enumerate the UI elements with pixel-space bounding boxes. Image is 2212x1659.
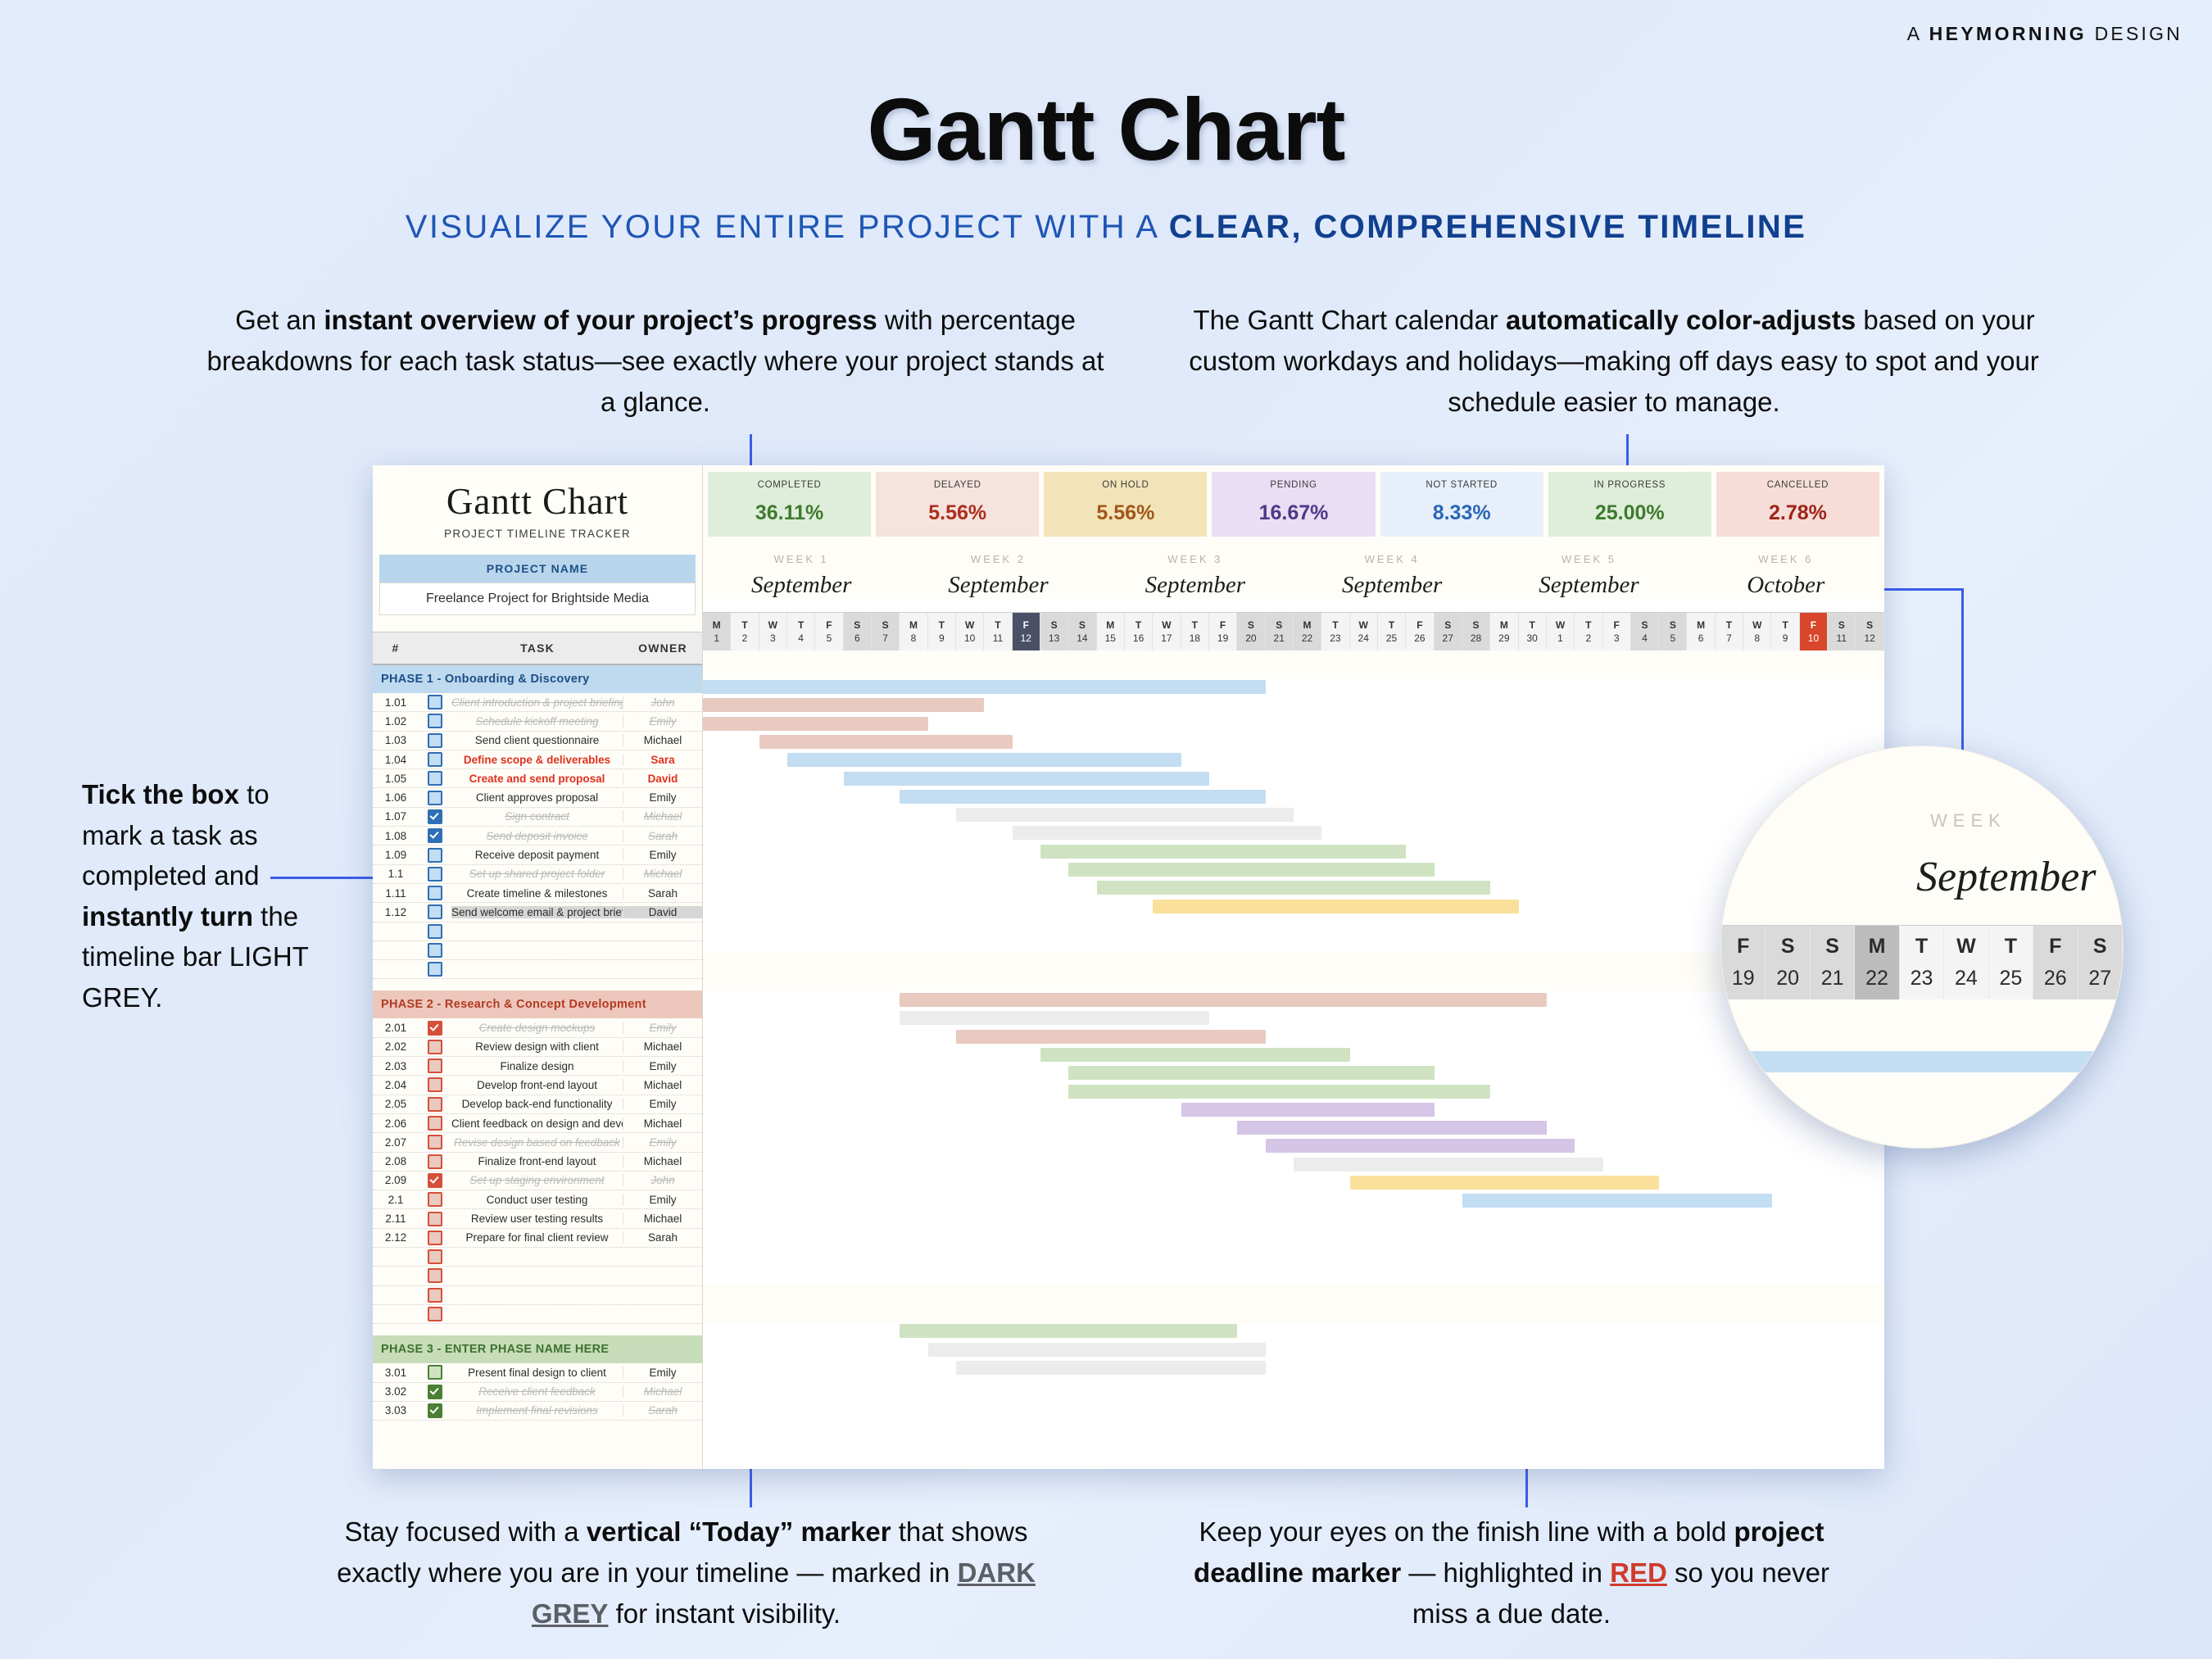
task-checkbox-cell[interactable] bbox=[419, 1135, 451, 1149]
week-header-4: WEEK 4September bbox=[1294, 553, 1490, 599]
task-checkbox-cell[interactable] bbox=[419, 848, 451, 863]
magnifier-day-24: W24 bbox=[1944, 926, 1988, 999]
task-row[interactable]: 2.05Develop back-end functionalityEmily bbox=[373, 1095, 702, 1114]
checkbox-icon[interactable] bbox=[428, 1249, 442, 1264]
day-cell-22[interactable]: M22 bbox=[1294, 613, 1321, 650]
gantt-bar[interactable] bbox=[1462, 1194, 1772, 1208]
day-weekday: S bbox=[1435, 619, 1462, 632]
day-number: 18 bbox=[1181, 632, 1208, 645]
task-name[interactable]: Create timeline & milestones bbox=[451, 887, 623, 900]
checkbox-icon[interactable] bbox=[428, 848, 442, 863]
task-owner[interactable]: Michael bbox=[623, 1213, 702, 1225]
day-number: 3 bbox=[759, 632, 786, 645]
checkbox-icon[interactable] bbox=[428, 1365, 442, 1380]
checkbox-icon[interactable] bbox=[428, 1192, 442, 1207]
task-owner[interactable]: Emily bbox=[623, 1367, 702, 1379]
day-cell-18[interactable]: T18 bbox=[1181, 613, 1209, 650]
checkbox-icon[interactable] bbox=[428, 1288, 442, 1303]
day-cell-2[interactable]: T2 bbox=[1575, 613, 1602, 650]
task-checkbox-cell[interactable] bbox=[419, 886, 451, 900]
gantt-bar[interactable] bbox=[759, 735, 1013, 749]
day-cell-29[interactable]: M29 bbox=[1490, 613, 1518, 650]
checkbox-icon[interactable] bbox=[428, 1212, 442, 1226]
task-checkbox-cell[interactable] bbox=[419, 771, 451, 786]
week-header-5: WEEK 5September bbox=[1490, 553, 1687, 599]
task-owner[interactable]: Michael bbox=[623, 810, 702, 823]
day-number: 29 bbox=[1490, 632, 1517, 645]
task-row[interactable]: 1.04Define scope & deliverablesSara bbox=[373, 750, 702, 769]
week-month: September bbox=[900, 572, 1096, 599]
status-card-cancelled: CANCELLED2.78% bbox=[1716, 472, 1879, 537]
day-cell-30[interactable]: T30 bbox=[1519, 613, 1547, 650]
day-cell-11[interactable]: S11 bbox=[1828, 613, 1856, 650]
task-row[interactable]: 3.01Present final design to clientEmily bbox=[373, 1363, 702, 1382]
checkbox-icon[interactable] bbox=[428, 924, 442, 939]
checkbox-icon[interactable] bbox=[428, 1077, 442, 1092]
checkbox-icon[interactable] bbox=[428, 1307, 442, 1321]
task-row[interactable]: 2.02Review design with clientMichael bbox=[373, 1038, 702, 1057]
task-row[interactable]: 1.09Receive deposit paymentEmily bbox=[373, 845, 702, 864]
checkbox-icon[interactable] bbox=[428, 809, 442, 824]
annotation-deadline-marker: Keep your eyes on the finish line with a… bbox=[1180, 1512, 1843, 1634]
task-name[interactable]: Present final design to client bbox=[451, 1367, 623, 1379]
checkbox-icon[interactable] bbox=[428, 1268, 442, 1283]
grid-phase-band bbox=[703, 650, 1884, 678]
brand-credit: A HEYMORNING DESIGN bbox=[1907, 23, 2183, 45]
task-owner[interactable]: Sarah bbox=[623, 1404, 702, 1416]
task-checkbox-cell[interactable] bbox=[419, 904, 451, 919]
day-weekday: T bbox=[984, 619, 1011, 632]
brand-prefix: A bbox=[1907, 23, 1921, 44]
task-name[interactable]: Send deposit invoice bbox=[451, 830, 623, 842]
task-owner[interactable]: Michael bbox=[623, 1385, 702, 1398]
week-label: WEEK 5 bbox=[1490, 553, 1687, 565]
day-cell-20[interactable]: S20 bbox=[1237, 613, 1265, 650]
task-checkbox-cell[interactable] bbox=[419, 1192, 451, 1207]
task-owner[interactable]: Michael bbox=[623, 1155, 702, 1167]
week-header-6: WEEK 6October bbox=[1688, 553, 1884, 599]
task-name[interactable]: Receive deposit payment bbox=[451, 849, 623, 861]
gantt-bar[interactable] bbox=[844, 772, 1209, 786]
task-checkbox-cell[interactable] bbox=[419, 714, 451, 728]
task-row[interactable]: 2.03Finalize designEmily bbox=[373, 1057, 702, 1076]
task-checkbox-cell[interactable] bbox=[419, 1212, 451, 1226]
task-name[interactable]: Schedule kickoff meeting bbox=[451, 715, 623, 728]
gantt-bar[interactable] bbox=[900, 993, 1547, 1007]
task-row[interactable]: 1.07Sign contractMichael bbox=[373, 808, 702, 827]
day-weekday: T bbox=[1575, 619, 1602, 632]
task-owner[interactable]: Sarah bbox=[623, 887, 702, 900]
checkbox-icon[interactable] bbox=[428, 1116, 442, 1131]
task-checkbox-cell[interactable] bbox=[419, 733, 451, 748]
gantt-bar[interactable] bbox=[1294, 1158, 1603, 1172]
task-checkbox-cell[interactable] bbox=[419, 1058, 451, 1073]
checkbox-icon[interactable] bbox=[428, 695, 442, 709]
task-row[interactable]: 1.02Schedule kickoff meetingEmily bbox=[373, 712, 702, 731]
magnifier-bar-row bbox=[1721, 1051, 2123, 1072]
task-checkbox-cell[interactable] bbox=[419, 809, 451, 824]
task-name[interactable]: Create and send proposal bbox=[451, 773, 623, 785]
project-name-input[interactable]: Freelance Project for Brightside Media bbox=[379, 582, 696, 615]
gantt-bar[interactable] bbox=[900, 790, 1265, 804]
checkbox-icon[interactable] bbox=[428, 714, 442, 728]
checkbox-icon[interactable] bbox=[428, 904, 442, 919]
checkbox-icon[interactable] bbox=[428, 791, 442, 805]
task-name[interactable]: Client introduction & project briefing bbox=[451, 696, 623, 709]
day-cell-10[interactable]: F10 bbox=[1800, 613, 1828, 650]
task-owner[interactable]: John bbox=[623, 696, 702, 709]
day-cell-21[interactable]: S21 bbox=[1266, 613, 1294, 650]
day-number: 4 bbox=[787, 632, 814, 645]
task-checkbox-cell[interactable] bbox=[419, 1385, 451, 1399]
gantt-bar[interactable] bbox=[1068, 1066, 1434, 1080]
checkbox-icon[interactable] bbox=[428, 943, 442, 958]
task-number: 2.09 bbox=[373, 1174, 419, 1186]
task-row-empty[interactable] bbox=[373, 960, 702, 979]
task-owner[interactable]: Michael bbox=[623, 734, 702, 746]
day-cell-8[interactable]: M8 bbox=[900, 613, 927, 650]
task-row[interactable]: 2.11Review user testing resultsMichael bbox=[373, 1209, 702, 1228]
task-row[interactable]: 2.01Create design mockupsEmily bbox=[373, 1018, 702, 1037]
day-number: 16 bbox=[1125, 632, 1152, 645]
task-owner[interactable]: Michael bbox=[623, 1079, 702, 1091]
magnifier-day-weekday: M bbox=[1869, 935, 1886, 959]
task-checkbox-cell[interactable] bbox=[419, 695, 451, 709]
task-row[interactable]: 2.04Develop front-end layoutMichael bbox=[373, 1076, 702, 1095]
task-name[interactable]: Set up shared project folder bbox=[451, 868, 623, 880]
day-weekday: T bbox=[787, 619, 814, 632]
task-name[interactable]: Define scope & deliverables bbox=[451, 754, 623, 766]
task-owner[interactable]: Sara bbox=[623, 754, 702, 766]
task-row[interactable]: 1.1Set up shared project folderMichael bbox=[373, 865, 702, 884]
task-row[interactable]: 1.06Client approves proposalEmily bbox=[373, 788, 702, 807]
day-cell-6[interactable]: M6 bbox=[1687, 613, 1715, 650]
task-owner[interactable]: Emily bbox=[623, 1022, 702, 1034]
day-number: 24 bbox=[1350, 632, 1377, 645]
task-checkbox-cell[interactable] bbox=[419, 1403, 451, 1418]
gantt-bar[interactable] bbox=[1068, 1085, 1490, 1099]
week-label: WEEK 4 bbox=[1294, 553, 1490, 565]
gantt-bar[interactable] bbox=[900, 1011, 1209, 1025]
day-cell-3[interactable]: W3 bbox=[759, 613, 787, 650]
task-owner[interactable]: Emily bbox=[623, 1060, 702, 1072]
day-weekday: M bbox=[1687, 619, 1714, 632]
task-name[interactable]: Finalize design bbox=[451, 1060, 623, 1072]
magnifier-day-weekday: F bbox=[2049, 935, 2061, 959]
day-cell-7[interactable]: T7 bbox=[1716, 613, 1743, 650]
gantt-bar[interactable] bbox=[1153, 900, 1518, 913]
col-header-task: TASK bbox=[451, 632, 623, 664]
day-number: 26 bbox=[1406, 632, 1433, 645]
gantt-bar[interactable] bbox=[900, 1324, 1237, 1338]
week-label: WEEK 2 bbox=[900, 553, 1096, 565]
task-owner[interactable]: Michael bbox=[623, 868, 702, 880]
day-cell-9[interactable]: T9 bbox=[1771, 613, 1799, 650]
status-card-label: NOT STARTED bbox=[1380, 480, 1543, 490]
task-name[interactable]: Conduct user testing bbox=[451, 1194, 623, 1206]
task-name[interactable]: Review design with client bbox=[451, 1040, 623, 1053]
task-checkbox-cell[interactable] bbox=[419, 1116, 451, 1131]
project-name-label: PROJECT NAME bbox=[379, 555, 696, 582]
task-row[interactable]: 2.09Set up staging environmentJohn bbox=[373, 1172, 702, 1190]
task-row[interactable]: 1.12Send welcome email & project briefDa… bbox=[373, 903, 702, 922]
task-checkbox-cell[interactable] bbox=[419, 867, 451, 882]
task-owner[interactable]: Michael bbox=[623, 1117, 702, 1130]
day-cell-16[interactable]: T16 bbox=[1125, 613, 1153, 650]
day-cell-12[interactable]: F12 bbox=[1013, 613, 1040, 650]
task-owner[interactable]: Emily bbox=[623, 849, 702, 861]
day-cell-3[interactable]: F3 bbox=[1603, 613, 1631, 650]
task-name[interactable]: Set up staging environment bbox=[451, 1174, 623, 1186]
task-number: 2.06 bbox=[373, 1117, 419, 1130]
day-cell-6[interactable]: S6 bbox=[844, 613, 872, 650]
week-month: September bbox=[1294, 572, 1490, 599]
task-row-empty[interactable] bbox=[373, 922, 702, 941]
task-checkbox-cell[interactable] bbox=[419, 1268, 451, 1283]
task-owner[interactable]: Sarah bbox=[623, 830, 702, 842]
task-name[interactable]: Revise design based on feedback bbox=[451, 1136, 623, 1149]
day-number: 19 bbox=[1209, 632, 1236, 645]
day-cell-23[interactable]: T23 bbox=[1321, 613, 1349, 650]
checkbox-icon[interactable] bbox=[428, 886, 442, 900]
checkbox-icon[interactable] bbox=[428, 1040, 442, 1054]
task-owner[interactable]: Michael bbox=[623, 1040, 702, 1053]
day-cell-11[interactable]: T11 bbox=[984, 613, 1012, 650]
day-cell-17[interactable]: W17 bbox=[1153, 613, 1181, 650]
task-number: 2.01 bbox=[373, 1022, 419, 1034]
day-weekday: M bbox=[1490, 619, 1517, 632]
task-row[interactable]: 3.02Receive client feedbackMichael bbox=[373, 1383, 702, 1402]
task-name[interactable]: Develop back-end functionality bbox=[451, 1098, 623, 1110]
day-weekday: M bbox=[703, 619, 730, 632]
task-number: 2.11 bbox=[373, 1213, 419, 1225]
task-name[interactable]: Finalize front-end layout bbox=[451, 1155, 623, 1167]
task-row-empty[interactable] bbox=[373, 1248, 702, 1267]
task-number: 3.02 bbox=[373, 1385, 419, 1398]
task-name[interactable]: Send client questionnaire bbox=[451, 734, 623, 746]
task-checkbox-cell[interactable] bbox=[419, 752, 451, 767]
task-owner[interactable]: John bbox=[623, 1174, 702, 1186]
task-row[interactable]: 1.11Create timeline & milestonesSarah bbox=[373, 884, 702, 903]
day-number: 23 bbox=[1321, 632, 1349, 645]
magnifier-day-number: 19 bbox=[1732, 967, 1755, 990]
day-cell-25[interactable]: T25 bbox=[1378, 613, 1406, 650]
gantt-bar[interactable] bbox=[956, 1030, 1266, 1044]
day-number: 2 bbox=[731, 632, 758, 645]
task-name[interactable]: Send welcome email & project brief bbox=[451, 906, 623, 918]
magnifier-day-weekday: T bbox=[1915, 935, 1928, 959]
task-checkbox-cell[interactable] bbox=[419, 791, 451, 805]
task-checkbox-cell[interactable] bbox=[419, 1173, 451, 1188]
status-card-label: IN PROGRESS bbox=[1548, 480, 1711, 490]
day-cell-1[interactable]: M1 bbox=[703, 613, 731, 650]
day-number: 3 bbox=[1603, 632, 1630, 645]
checkbox-icon[interactable] bbox=[428, 752, 442, 767]
task-owner[interactable]: Sarah bbox=[623, 1231, 702, 1244]
day-weekday: T bbox=[1378, 619, 1405, 632]
status-card-pending: PENDING16.67% bbox=[1212, 472, 1375, 537]
gantt-bar[interactable] bbox=[928, 1343, 1266, 1357]
gantt-bar[interactable] bbox=[1237, 1121, 1547, 1135]
magnifier-day-22: M22 bbox=[1855, 926, 1899, 999]
day-cell-10[interactable]: W10 bbox=[956, 613, 984, 650]
task-owner[interactable]: Emily bbox=[623, 1194, 702, 1206]
task-name[interactable]: Review user testing results bbox=[451, 1213, 623, 1225]
day-weekday: M bbox=[1294, 619, 1321, 632]
task-checkbox-cell[interactable] bbox=[419, 1288, 451, 1303]
day-cell-9[interactable]: T9 bbox=[928, 613, 956, 650]
day-weekday: S bbox=[1631, 619, 1658, 632]
checkbox-icon[interactable] bbox=[428, 1231, 442, 1245]
task-owner[interactable]: David bbox=[623, 906, 702, 918]
week-header-3: WEEK 3September bbox=[1097, 553, 1294, 599]
checkbox-icon[interactable] bbox=[428, 1097, 442, 1112]
day-cell-28[interactable]: S28 bbox=[1462, 613, 1490, 650]
magnifier-day-number: 20 bbox=[1776, 967, 1799, 990]
gantt-bar[interactable] bbox=[1068, 863, 1434, 877]
task-row-empty[interactable] bbox=[373, 1286, 702, 1305]
task-checkbox-cell[interactable] bbox=[419, 1097, 451, 1112]
status-card-value: 2.78% bbox=[1716, 501, 1879, 525]
task-owner[interactable]: Emily bbox=[623, 715, 702, 728]
checkbox-icon[interactable] bbox=[428, 962, 442, 977]
gantt-bar[interactable] bbox=[1013, 826, 1322, 840]
task-checkbox-cell[interactable] bbox=[419, 924, 451, 939]
checkbox-icon[interactable] bbox=[428, 771, 442, 786]
task-row[interactable]: 2.1Conduct user testingEmily bbox=[373, 1190, 702, 1209]
task-owner[interactable]: David bbox=[623, 773, 702, 785]
checkbox-icon[interactable] bbox=[428, 1021, 442, 1036]
task-name[interactable]: Client approves proposal bbox=[451, 791, 623, 804]
magnifier-day-23: T23 bbox=[1900, 926, 1944, 999]
task-row[interactable]: 1.01Client introduction & project briefi… bbox=[373, 693, 702, 712]
task-checkbox-cell[interactable] bbox=[419, 1040, 451, 1054]
status-card-delayed: DELAYED5.56% bbox=[876, 472, 1039, 537]
phase-gap bbox=[373, 979, 702, 990]
magnifier-day-number: 21 bbox=[1821, 967, 1844, 990]
task-name[interactable]: Prepare for final client review bbox=[451, 1231, 623, 1244]
status-card-label: PENDING bbox=[1212, 480, 1375, 490]
checkbox-icon[interactable] bbox=[428, 867, 442, 882]
gantt-bar[interactable] bbox=[956, 1361, 1266, 1375]
task-row-empty[interactable] bbox=[373, 1305, 702, 1324]
day-weekday: W bbox=[1350, 619, 1377, 632]
magnifier-week-label: WEEK bbox=[1930, 810, 2006, 832]
day-cell-19[interactable]: F19 bbox=[1209, 613, 1237, 650]
task-row[interactable]: 2.08Finalize front-end layoutMichael bbox=[373, 1153, 702, 1172]
checkbox-icon[interactable] bbox=[428, 828, 442, 843]
task-checkbox-cell[interactable] bbox=[419, 1249, 451, 1264]
task-number: 1.04 bbox=[373, 754, 419, 766]
magnifier-day-26: F26 bbox=[2033, 926, 2078, 999]
day-cell-5[interactable]: F5 bbox=[815, 613, 843, 650]
task-number: 1.01 bbox=[373, 696, 419, 709]
task-checkbox-cell[interactable] bbox=[419, 1021, 451, 1036]
gantt-bar[interactable] bbox=[787, 753, 1181, 767]
magnifier-day-20: S20 bbox=[1766, 926, 1810, 999]
day-cell-24[interactable]: W24 bbox=[1350, 613, 1378, 650]
task-row-empty[interactable] bbox=[373, 941, 702, 960]
gantt-bar[interactable] bbox=[1040, 1048, 1350, 1062]
day-cell-5[interactable]: S5 bbox=[1659, 613, 1687, 650]
day-cell-15[interactable]: M15 bbox=[1097, 613, 1125, 650]
task-row[interactable]: 2.07Revise design based on feedbackEmily bbox=[373, 1133, 702, 1152]
day-cell-2[interactable]: T2 bbox=[731, 613, 759, 650]
task-row[interactable]: 1.05Create and send proposalDavid bbox=[373, 769, 702, 788]
checkbox-icon[interactable] bbox=[428, 1154, 442, 1169]
day-cell-26[interactable]: F26 bbox=[1406, 613, 1434, 650]
checkbox-icon[interactable] bbox=[428, 1385, 442, 1399]
task-row[interactable]: 1.08Send deposit invoiceSarah bbox=[373, 827, 702, 845]
task-checkbox-cell[interactable] bbox=[419, 1307, 451, 1321]
gantt-sheet[interactable]: Gantt Chart PROJECT TIMELINE TRACKER PRO… bbox=[373, 465, 1884, 1469]
day-cell-27[interactable]: S27 bbox=[1435, 613, 1462, 650]
checkbox-icon[interactable] bbox=[428, 1058, 442, 1073]
day-cell-12[interactable]: S12 bbox=[1856, 613, 1883, 650]
task-name[interactable]: Develop front-end layout bbox=[451, 1079, 623, 1091]
task-name[interactable]: Sign contract bbox=[451, 810, 623, 823]
task-checkbox-cell[interactable] bbox=[419, 943, 451, 958]
task-owner[interactable]: Emily bbox=[623, 791, 702, 804]
gantt-bar[interactable] bbox=[703, 680, 1266, 694]
day-cell-1[interactable]: W1 bbox=[1547, 613, 1575, 650]
task-checkbox-cell[interactable] bbox=[419, 962, 451, 977]
day-cell-4[interactable]: S4 bbox=[1631, 613, 1659, 650]
task-row[interactable]: 1.03Send client questionnaireMichael bbox=[373, 732, 702, 750]
task-name[interactable]: Create design mockups bbox=[451, 1022, 623, 1034]
checkbox-icon[interactable] bbox=[428, 733, 442, 748]
task-row[interactable]: 3.03Implement final revisionsSarah bbox=[373, 1402, 702, 1421]
checkbox-icon[interactable] bbox=[428, 1173, 442, 1188]
day-weekday: S bbox=[1266, 619, 1293, 632]
task-owner[interactable]: Emily bbox=[623, 1136, 702, 1149]
phase-header-1: PHASE 1 - Onboarding & Discovery bbox=[373, 665, 702, 693]
task-owner[interactable]: Emily bbox=[623, 1098, 702, 1110]
page-subtitle: VISUALIZE YOUR ENTIRE PROJECT WITH A CLE… bbox=[0, 209, 2212, 246]
gantt-bar[interactable] bbox=[703, 717, 928, 731]
task-checkbox-cell[interactable] bbox=[419, 1231, 451, 1245]
checkbox-icon[interactable] bbox=[428, 1135, 442, 1149]
gantt-bar[interactable] bbox=[703, 698, 984, 712]
status-card-in-progress: IN PROGRESS25.00% bbox=[1548, 472, 1711, 537]
task-row-empty[interactable] bbox=[373, 1267, 702, 1285]
magnifier-day-weekday: S bbox=[1825, 935, 1839, 959]
day-cell-13[interactable]: S13 bbox=[1040, 613, 1068, 650]
gantt-bar[interactable] bbox=[1181, 1103, 1435, 1117]
task-name[interactable]: Implement final revisions bbox=[451, 1404, 623, 1416]
gantt-bar[interactable] bbox=[1350, 1176, 1660, 1190]
status-card-label: CANCELLED bbox=[1716, 480, 1879, 490]
task-name[interactable]: Client feedback on design and developmen… bbox=[451, 1117, 623, 1130]
task-checkbox-cell[interactable] bbox=[419, 828, 451, 843]
day-cell-4[interactable]: T4 bbox=[787, 613, 815, 650]
gantt-bar[interactable] bbox=[1266, 1139, 1575, 1153]
task-checkbox-cell[interactable] bbox=[419, 1154, 451, 1169]
day-cell-14[interactable]: S14 bbox=[1068, 613, 1096, 650]
gantt-bar[interactable] bbox=[1097, 881, 1491, 895]
gantt-bar[interactable] bbox=[956, 808, 1294, 822]
task-checkbox-cell[interactable] bbox=[419, 1365, 451, 1380]
task-name[interactable]: Receive client feedback bbox=[451, 1385, 623, 1398]
checkbox-icon[interactable] bbox=[428, 1403, 442, 1418]
day-cell-7[interactable]: S7 bbox=[872, 613, 900, 650]
task-checkbox-cell[interactable] bbox=[419, 1077, 451, 1092]
task-row[interactable]: 2.12Prepare for final client reviewSarah bbox=[373, 1229, 702, 1248]
day-weekday: T bbox=[928, 619, 955, 632]
day-cell-8[interactable]: W8 bbox=[1743, 613, 1771, 650]
task-row[interactable]: 2.06Client feedback on design and develo… bbox=[373, 1114, 702, 1133]
gantt-bar[interactable] bbox=[1040, 845, 1406, 859]
